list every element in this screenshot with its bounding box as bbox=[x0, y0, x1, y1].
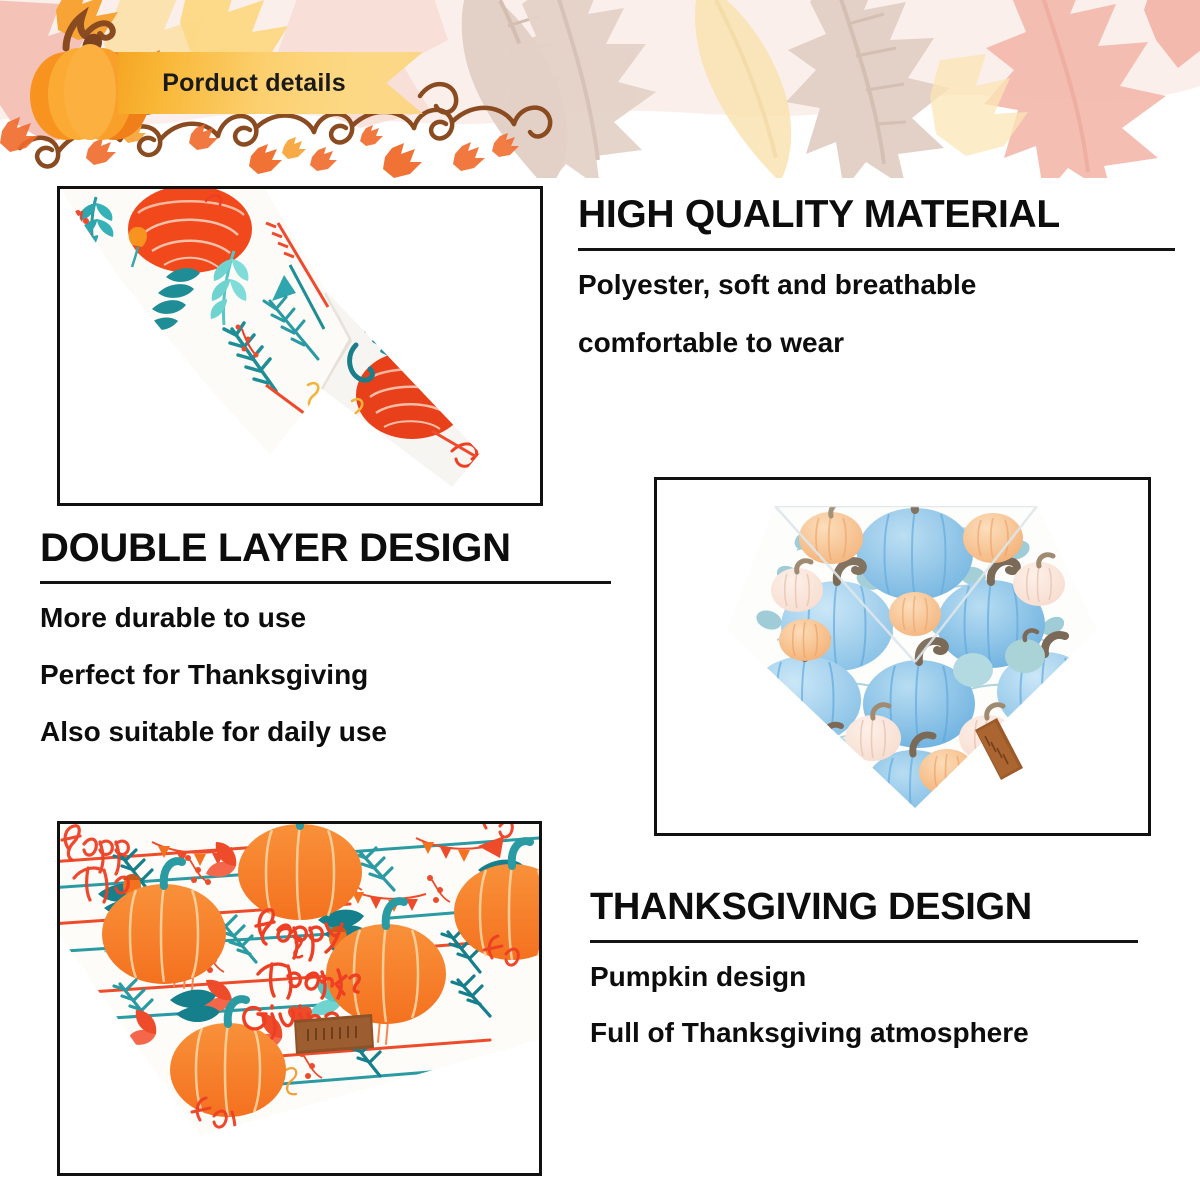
folded-bandana-image bbox=[60, 189, 540, 503]
header-banner: Porduct details bbox=[0, 0, 1200, 178]
feature-line-design-1: Pumpkin design bbox=[590, 963, 1170, 991]
product-photo-blue-bandana[interactable] bbox=[654, 477, 1151, 836]
leather-tag bbox=[294, 1014, 374, 1054]
pumpkin-print-2 bbox=[238, 824, 362, 920]
feature-divider-thanksgiving bbox=[590, 940, 1138, 943]
feature-block-material: HIGH QUALITY MATERIAL Polyester, soft an… bbox=[578, 195, 1178, 387]
feature-title-double-layer: DOUBLE LAYER DESIGN bbox=[40, 527, 615, 569]
feature-line-double-1: More durable to use bbox=[40, 604, 615, 632]
feature-line-double-2: Perfect for Thanksgiving bbox=[40, 661, 615, 689]
feature-line-design-2: Full of Thanksgiving atmosphere bbox=[590, 1019, 1170, 1047]
blue-pumpkin-bandana-image bbox=[657, 480, 1148, 833]
product-photo-folded-bandana[interactable] bbox=[57, 186, 543, 506]
feature-block-thanksgiving: THANKSGIVING DESIGN Pumpkin design Full … bbox=[590, 888, 1170, 1075]
product-detail-page: Porduct details bbox=[0, 0, 1200, 1200]
feature-line-material-1: Polyester, soft and breathable bbox=[578, 271, 1178, 299]
section-ribbon: Porduct details bbox=[118, 52, 423, 114]
product-photo-orange-bandana[interactable] bbox=[57, 821, 542, 1176]
feature-divider-double-layer bbox=[40, 581, 611, 584]
feature-title-material: HIGH QUALITY MATERIAL bbox=[578, 195, 1178, 236]
feature-line-double-3: Also suitable for daily use bbox=[40, 718, 615, 746]
feature-divider-material bbox=[578, 248, 1175, 251]
ribbon-label: Porduct details bbox=[118, 52, 390, 114]
feature-block-double-layer: DOUBLE LAYER DESIGN More durable to use … bbox=[40, 527, 615, 775]
orange-pumpkin-bandana-image bbox=[60, 824, 539, 1173]
feature-title-thanksgiving: THANKSGIVING DESIGN bbox=[590, 888, 1170, 928]
feature-line-material-2: comfortable to wear bbox=[578, 329, 1178, 357]
